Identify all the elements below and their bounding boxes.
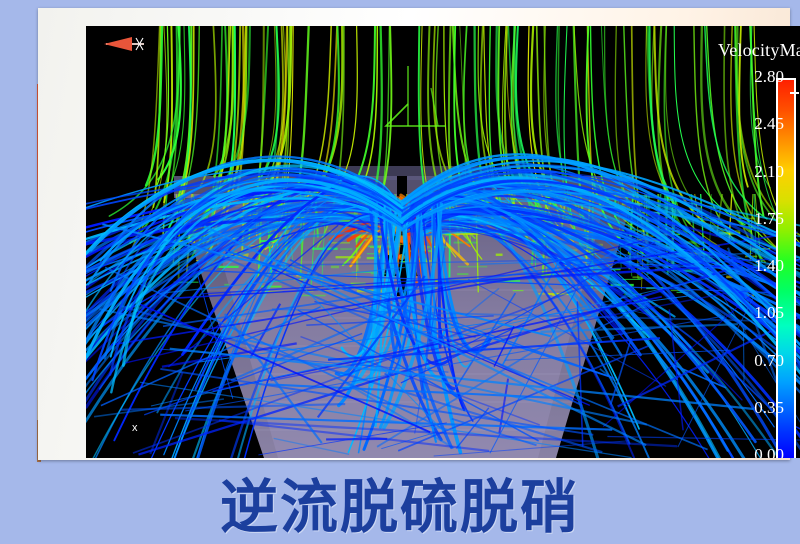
colorbar-tick-3: 1.75 — [714, 209, 784, 229]
colorbar-max-tick — [790, 92, 799, 94]
figure-frame: VelocityMagnitude 2.74 0.00 2.802.452.10… — [38, 8, 790, 460]
slide-caption: 逆流脱硫脱硝 — [0, 462, 800, 542]
axis-label-x: x — [132, 422, 138, 434]
colorbar-tick-4: 1.40 — [714, 256, 784, 276]
colorbar-tick-7: 0.35 — [714, 398, 784, 418]
colorbar-tick-1: 2.45 — [714, 114, 784, 134]
colorbar-tick-8: 0.00 — [714, 445, 784, 458]
spray-streamlines — [86, 154, 800, 458]
slide-root: VelocityMagnitude 2.74 0.00 2.802.452.10… — [0, 0, 800, 542]
colorbar-tick-0: 2.80 — [714, 67, 784, 87]
colorbar-tick-2: 2.10 — [714, 162, 784, 182]
streamline-canvas — [86, 26, 800, 458]
colorbar-tick-6: 0.70 — [714, 351, 784, 371]
colorbar-tick-5: 1.05 — [714, 303, 784, 323]
cfd-plot-area: VelocityMagnitude 2.74 0.00 2.802.452.10… — [86, 26, 800, 458]
colorbar: VelocityMagnitude 2.74 0.00 2.802.452.10… — [730, 36, 800, 456]
colorbar-title: VelocityMagnitude — [718, 40, 800, 61]
axis-orientation-icon — [86, 26, 146, 66]
